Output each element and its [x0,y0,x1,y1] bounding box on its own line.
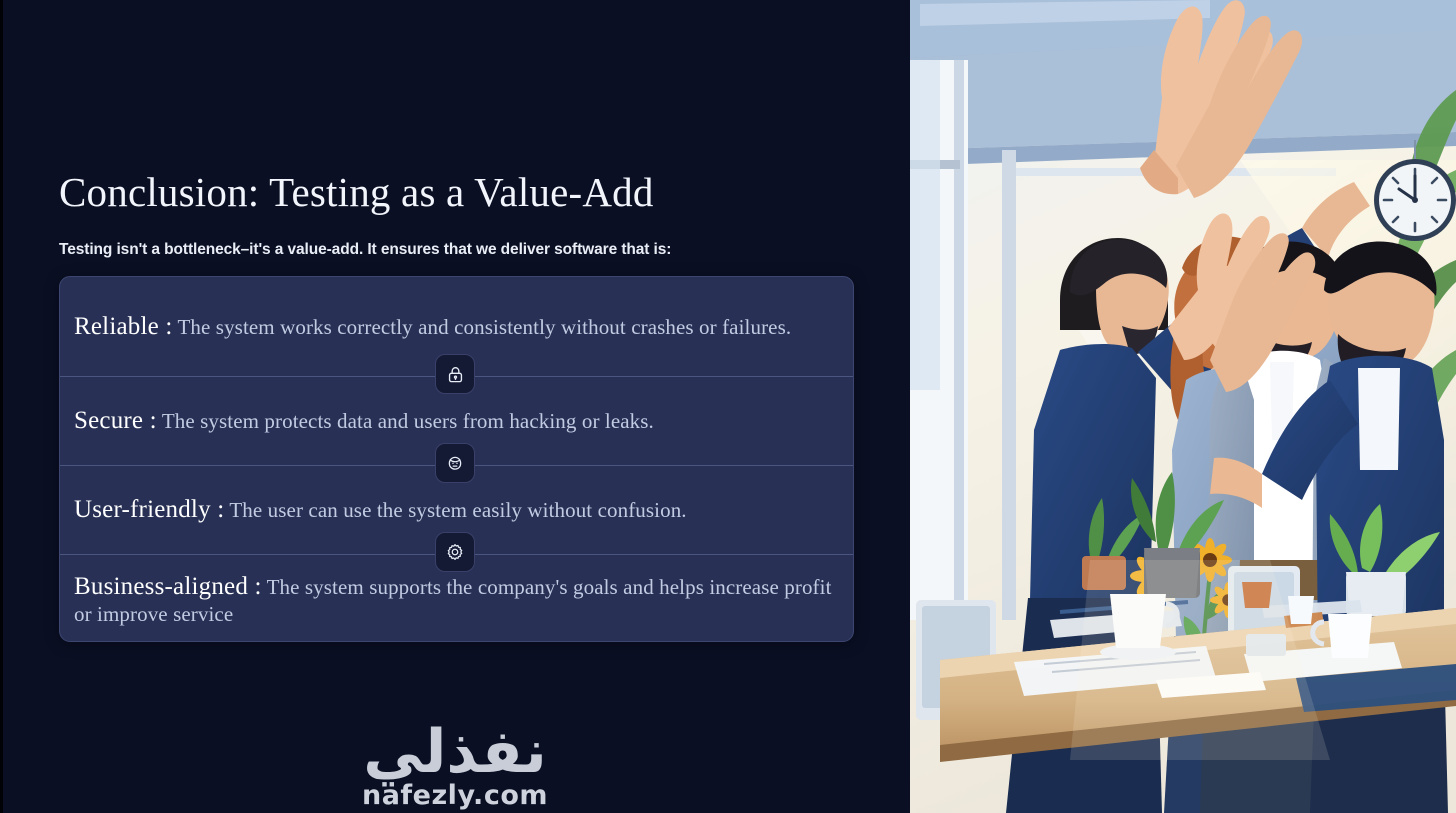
feature-term-user-friendly: User-friendly : [74,496,224,523]
feature-description-user-friendly: The user can use the system easily witho… [229,498,686,522]
feature-text-reliable: Reliable :The system works correctly and… [74,313,791,341]
content-pane: Conclusion: Testing as a Value-Add Testi… [0,0,910,813]
face-smile-icon-badge [435,443,475,483]
watermark: نفذلي nafezly.com [0,719,910,811]
lock-icon-badge [435,354,475,394]
gear-icon-badge [435,532,475,572]
feature-text-secure: Secure :The system protects data and use… [74,407,654,435]
feature-description-secure: The system protects data and users from … [162,409,654,433]
feature-term-business-aligned: Business-aligned : [74,573,262,600]
gear-icon [445,542,465,562]
lock-icon [446,365,465,384]
watermark-domain-text: nafezly.com [362,781,548,811]
left-edge-strip [0,0,3,813]
face-smile-icon [445,453,465,473]
feature-term-reliable: Reliable : [74,313,173,340]
feature-description-reliable: The system works correctly and consisten… [178,315,792,339]
office-team-photo: Four business colleagues in suits doing … [910,0,1456,813]
feature-text-business-aligned: Business-aligned :The system supports th… [74,573,839,628]
watermark-arabic-text: نفذلي [363,719,547,785]
page-subtitle: Testing isn't a bottleneck–it's a value-… [59,239,671,261]
slide-root: Conclusion: Testing as a Value-Add Testi… [0,0,1456,813]
feature-text-user-friendly: User-friendly :The user can use the syst… [74,496,687,524]
office-scene-illustration [910,0,1456,813]
feature-term-secure: Secure : [74,407,157,434]
page-title: Conclusion: Testing as a Value-Add [59,166,654,218]
